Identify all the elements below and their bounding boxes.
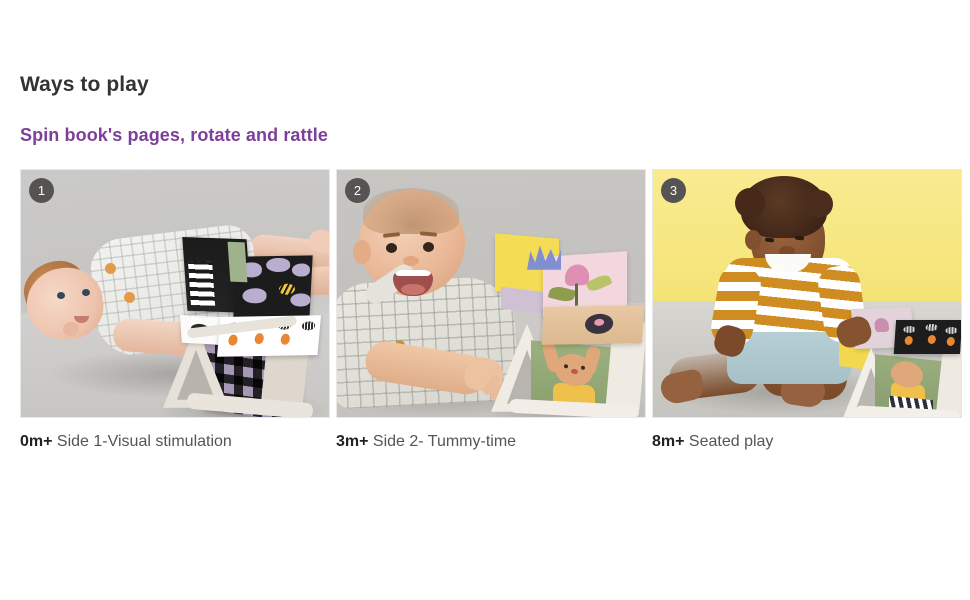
baby-ear (353, 240, 371, 264)
step-badge-2: 2 (345, 178, 370, 203)
age-label-1: 0m+ (20, 433, 52, 450)
ways-to-play-section: Ways to play Spin book's pages, rotate a… (20, 72, 960, 451)
carrot-motif (280, 333, 290, 344)
scene-tummy-time (337, 170, 645, 417)
romper-button-1 (105, 263, 116, 274)
leaf-motif (586, 272, 613, 293)
carrot-motif (228, 334, 238, 345)
age-label-2: 3m+ (336, 433, 368, 450)
tulip-motif (565, 264, 589, 287)
page-black-carrots (894, 320, 962, 354)
play-photo-1[interactable]: 1 (20, 169, 330, 418)
page-title: Ways to play (20, 72, 960, 97)
blob (292, 263, 311, 276)
description-label-2: Side 2- Tummy-time (373, 433, 516, 450)
scene-visual-stimulation (21, 170, 329, 417)
page-tan-mole (541, 305, 644, 345)
page-green-strip (228, 242, 248, 282)
play-card-2[interactable]: 2 3m+ Side 2- Tummy-time (336, 169, 646, 451)
blob (290, 293, 311, 306)
baby-eye-right (82, 289, 90, 296)
bunny-eye-right (581, 365, 585, 369)
description-label-3: Seated play (689, 433, 774, 450)
step-badge-1: 1 (29, 178, 54, 203)
play-card-1[interactable]: 1 0m+ Side 1-Visual stimulation (20, 169, 330, 451)
baby-hair (363, 188, 459, 234)
scene-seated-play (653, 170, 961, 417)
description-label-1: Side 1-Visual stimulation (57, 433, 232, 450)
toddler-eye-left (765, 237, 774, 242)
carrot-motif (904, 336, 913, 345)
bunny-nose (571, 369, 578, 375)
section-subtitle: Spin book's pages, rotate and rattle (20, 125, 960, 147)
toddler-ear (745, 230, 761, 250)
age-label-3: 8m+ (652, 433, 684, 450)
mole-motif (584, 313, 613, 333)
leaf-motif (925, 324, 938, 331)
baby-eye-left (57, 292, 65, 299)
leaf-motif (302, 321, 316, 330)
step-badge-3: 3 (661, 178, 686, 203)
book-toy-colour (487, 232, 646, 412)
leaf-motif (548, 284, 577, 303)
play-caption-3: 8m+ Seated play (652, 432, 962, 451)
play-caption-2: 3m+ Side 2- Tummy-time (336, 432, 646, 451)
blob (266, 258, 291, 272)
book-toy-seated (839, 296, 962, 418)
toddler-curly-hair (741, 176, 827, 238)
baby-nose (403, 256, 419, 266)
play-photo-3[interactable]: 3 (652, 169, 962, 418)
play-cards-row: 1 0m+ Side 1-Visual stimulation (20, 169, 960, 451)
leaf-motif (945, 327, 958, 334)
leaf-motif (903, 326, 916, 333)
carrot-motif (928, 335, 937, 344)
romper-button-2 (124, 292, 135, 303)
play-card-3[interactable]: 3 8m+ Seated play (652, 169, 962, 451)
toddler-eye-right (795, 235, 804, 240)
carrot-motif (254, 333, 264, 344)
book-toy-high-contrast (147, 230, 330, 415)
carrot-motif (946, 337, 955, 346)
bunny-eye-left (564, 364, 568, 368)
baby-eye-right (423, 242, 434, 252)
bee-motif (279, 283, 296, 294)
blob (242, 288, 267, 303)
baby-eye-left (386, 243, 397, 253)
play-photo-2[interactable]: 2 (336, 169, 646, 418)
play-caption-1: 0m+ Side 1-Visual stimulation (20, 432, 330, 451)
